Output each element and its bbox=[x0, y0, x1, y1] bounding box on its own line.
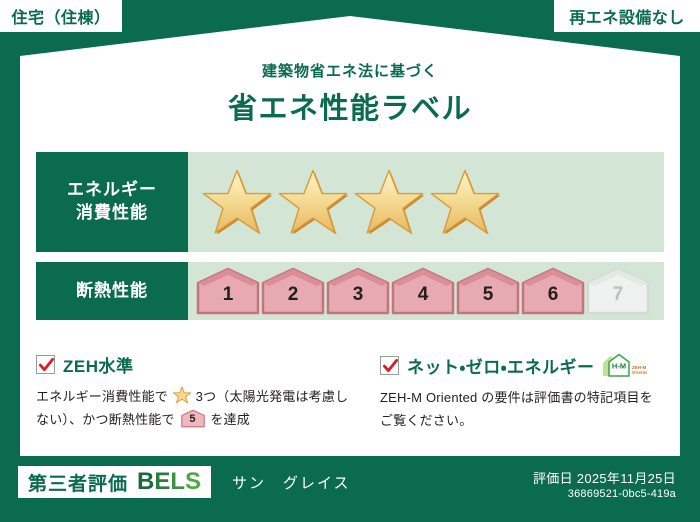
evaluation-date: 評価日 2025年11月25日 bbox=[436, 468, 676, 487]
insulation-grade-scale: 1234567 bbox=[188, 262, 664, 320]
energy-performance-label-line1: エネルギー bbox=[67, 179, 157, 202]
insulation-grade-badge: 1 bbox=[196, 267, 260, 315]
insulation-grade-value: 4 bbox=[391, 267, 455, 315]
label-subtitle: 建築物省エネ法に基づく bbox=[0, 60, 700, 81]
bels-letter: B bbox=[137, 468, 154, 495]
bels-certification-plate: 第三者評価 BELS bbox=[18, 466, 211, 498]
zeh-standard-title: ZEH水準 bbox=[63, 352, 134, 377]
insulation-grade-badge: 6 bbox=[521, 267, 585, 315]
zeh-standard-note: ZEH水準 エネルギー消費性能で 3つ（太陽光発電は考慮しない）、かつ断熱性能で… bbox=[36, 352, 350, 433]
net-zero-energy-checkbox bbox=[380, 356, 399, 375]
star-icon bbox=[278, 168, 348, 236]
insulation-performance-label-text: 断熱性能 bbox=[76, 280, 148, 303]
star-icon-inline bbox=[173, 386, 191, 404]
energy-star-rating bbox=[188, 152, 664, 252]
energy-performance-row: エネルギー 消費性能 bbox=[36, 152, 664, 252]
net-zero-energy-note: ネット・ゼロ・エネルギー H-M ZEH-M Oriented ZEH-M Or… bbox=[350, 352, 664, 433]
zeh-standard-body-post: を達成 bbox=[210, 412, 250, 427]
insulation-grade-value: 5 bbox=[456, 267, 520, 315]
label-footer: 第三者評価 BELS サン グレイス 評価日 2025年11月25日 36869… bbox=[0, 460, 700, 522]
third-party-evaluation-label: 第三者評価 bbox=[28, 469, 128, 496]
star-icon bbox=[202, 168, 272, 236]
bels-letter: S bbox=[185, 468, 201, 495]
bels-letter: E bbox=[154, 468, 170, 495]
insulation-grade-inline-value: 5 bbox=[181, 409, 205, 428]
building-type-badge: 住宅（住棟） bbox=[0, 0, 124, 34]
net-zero-energy-title: ネット・ゼロ・エネルギー bbox=[407, 353, 595, 378]
insulation-grade-value: 1 bbox=[196, 267, 260, 315]
insulation-grade-value: 2 bbox=[261, 267, 325, 315]
bels-letter: L bbox=[170, 468, 185, 495]
title-block: 建築物省エネ法に基づく 省エネ性能ラベル bbox=[0, 60, 700, 127]
insulation-grade-value: 6 bbox=[521, 267, 585, 315]
renewable-equipment-badge-label: 再エネ設備なし bbox=[569, 4, 685, 28]
zeh-standard-checkbox bbox=[36, 355, 55, 374]
energy-performance-label-line2: 消費性能 bbox=[67, 202, 157, 225]
star-icon bbox=[354, 168, 424, 236]
energy-performance-label: エネルギー 消費性能 bbox=[36, 152, 188, 252]
property-name: サン グレイス bbox=[232, 472, 351, 493]
insulation-grade-value: 3 bbox=[326, 267, 390, 315]
insulation-grade-badge: 4 bbox=[391, 267, 455, 315]
svg-text:ZEH-M: ZEH-M bbox=[632, 365, 646, 370]
label-title: 省エネ性能ラベル bbox=[0, 85, 700, 127]
bels-wordmark: BELS bbox=[137, 470, 201, 494]
insulation-grade-badge: 5 bbox=[456, 267, 520, 315]
insulation-grade-inline-badge: 5 bbox=[181, 409, 205, 428]
zeh-standard-heading: ZEH水準 bbox=[36, 352, 350, 377]
building-type-badge-label: 住宅（住棟） bbox=[11, 4, 110, 28]
zeh-standard-body-pre: エネルギー消費性能で bbox=[36, 389, 168, 404]
insulation-performance-row: 断熱性能 1234567 bbox=[36, 262, 664, 320]
renewable-equipment-badge: 再エネ設備なし bbox=[552, 0, 700, 34]
net-zero-energy-body: ZEH-M Oriented の要件は評価書の特記項目をご覧ください。 bbox=[380, 387, 664, 433]
zeh-m-oriented-logo: H-M ZEH-M Oriented bbox=[601, 352, 647, 378]
insulation-grade-value: 7 bbox=[586, 267, 650, 315]
star-icon bbox=[430, 168, 500, 236]
svg-text:Oriented: Oriented bbox=[632, 370, 647, 375]
zeh-standard-body: エネルギー消費性能で 3つ（太陽光発電は考慮しない）、かつ断熱性能で 5 を達成 bbox=[36, 386, 350, 432]
insulation-grade-badge: 2 bbox=[261, 267, 325, 315]
insulation-performance-label: 断熱性能 bbox=[36, 262, 188, 320]
notes-section: ZEH水準 エネルギー消費性能で 3つ（太陽光発電は考慮しない）、かつ断熱性能で… bbox=[36, 352, 664, 433]
energy-performance-label: 住宅（住棟） 再エネ設備なし 建築物省エネ法に基づく 省エネ性能ラベル エネルギ… bbox=[0, 0, 700, 522]
insulation-grade-badge: 7 bbox=[586, 267, 650, 315]
evaluation-id: 36869521-0bc5-419a bbox=[436, 488, 676, 500]
net-zero-energy-heading: ネット・ゼロ・エネルギー H-M ZEH-M Oriented bbox=[380, 352, 664, 378]
insulation-grade-badge: 3 bbox=[326, 267, 390, 315]
svg-text:H-M: H-M bbox=[611, 362, 625, 371]
